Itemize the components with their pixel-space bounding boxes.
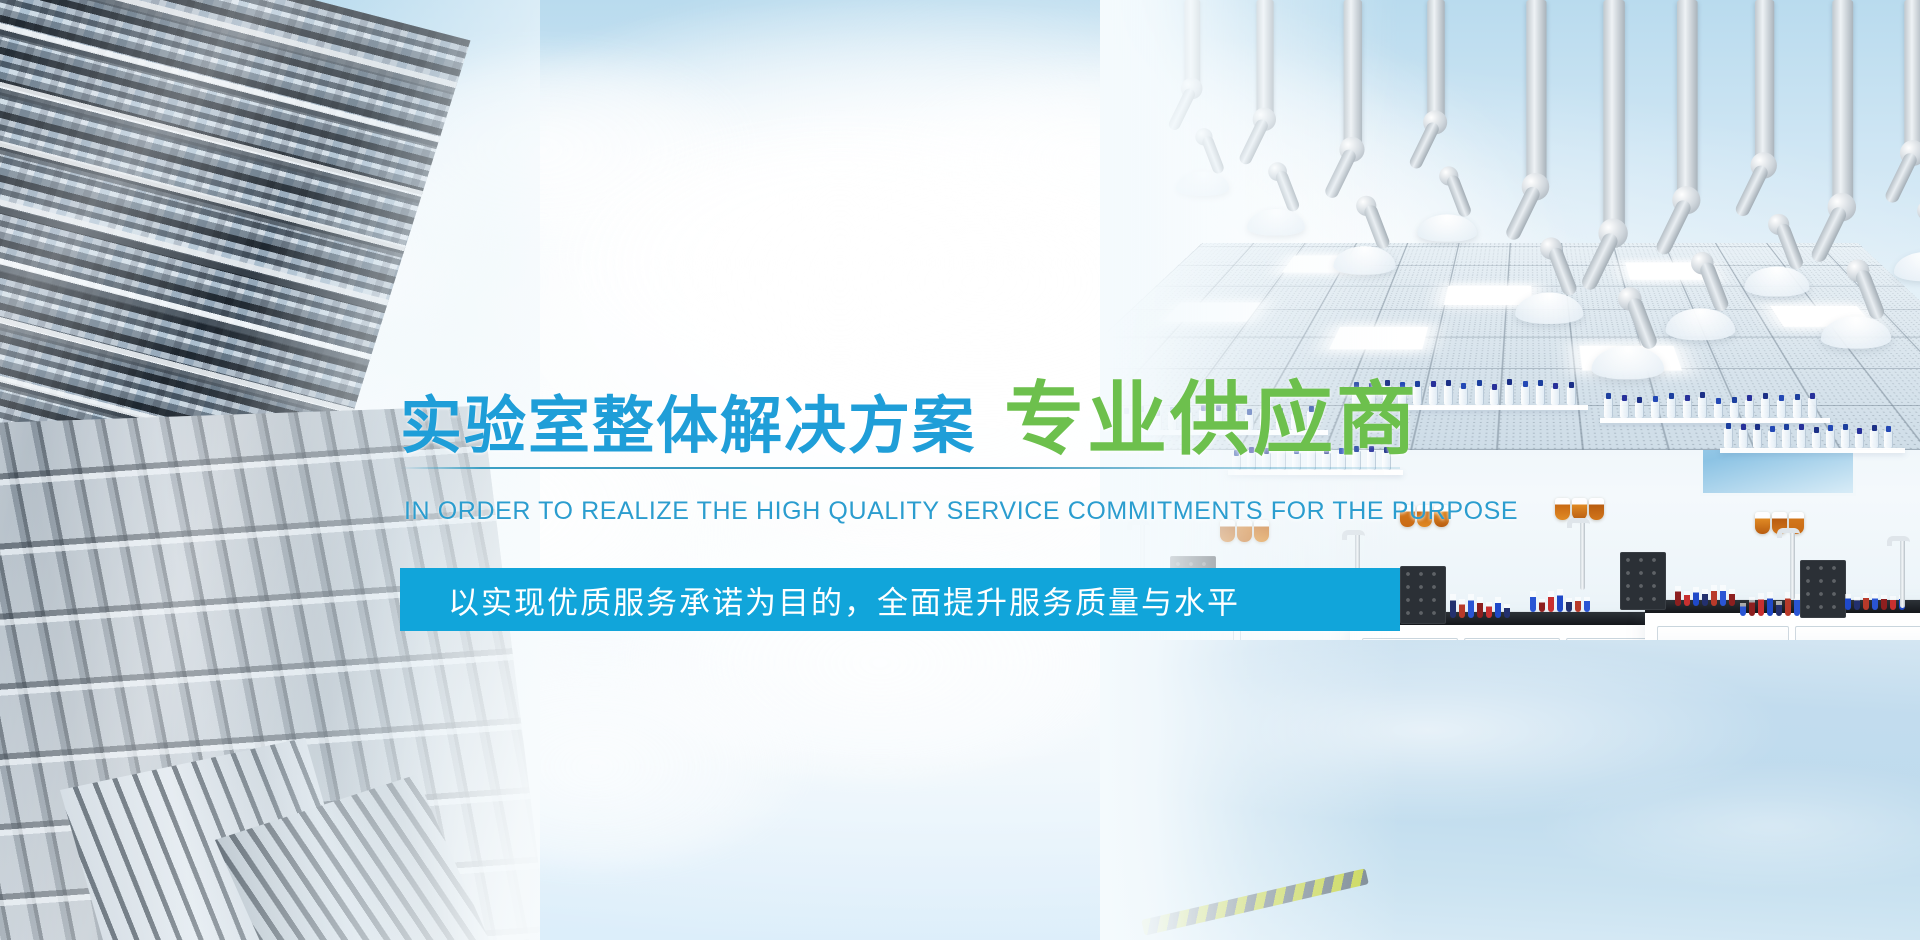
headline-accent: 专业供应商 — [1004, 355, 1419, 471]
strapline-bar: 以实现优质服务承诺为目的，全面提升服务质量与水平 — [400, 568, 1400, 631]
hero-banner: 实验室整体解决方案 专业供应商 IN ORDER TO REALIZE THE … — [0, 0, 1920, 940]
page-title: 实验室整体解决方案 专业供应商 — [400, 355, 1419, 471]
headline-primary: 实验室整体解决方案 — [400, 375, 976, 465]
subtitle-english: IN ORDER TO REALIZE THE HIGH QUALITY SER… — [404, 497, 1518, 526]
headline-divider — [400, 467, 1400, 469]
strapline-text: 以实现优质服务承诺为目的，全面提升服务质量与水平 — [448, 577, 1240, 622]
text-overlay: 实验室整体解决方案 专业供应商 IN ORDER TO REALIZE THE … — [0, 0, 1920, 940]
